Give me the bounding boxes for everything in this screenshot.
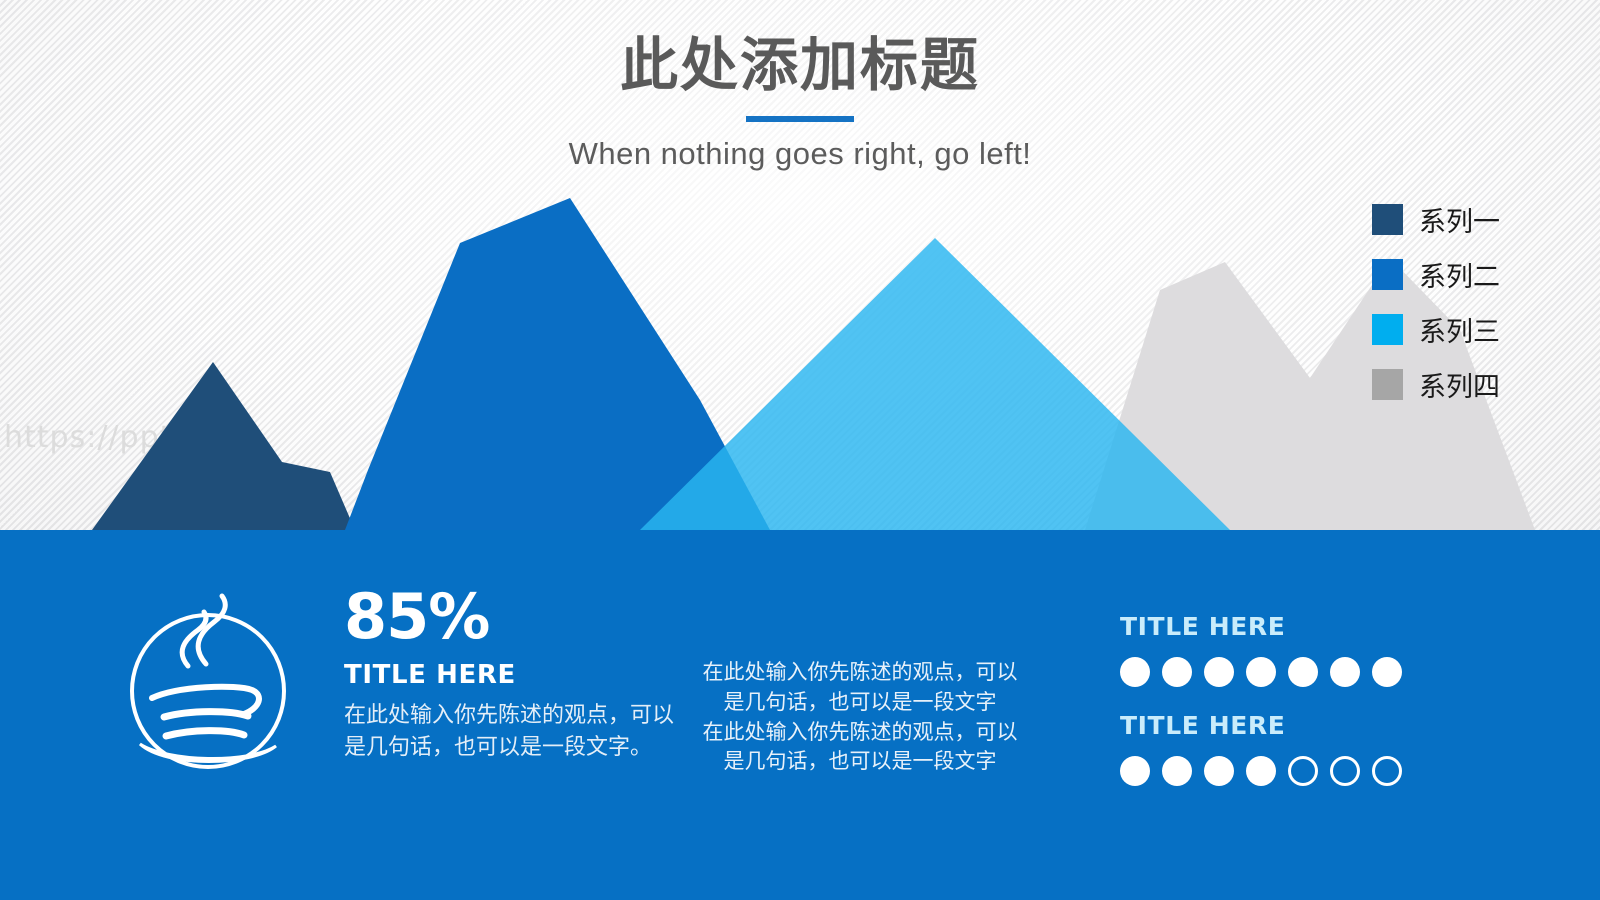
rating-dot-row-two <box>1120 756 1402 786</box>
rating-group-two: TITLE HERE <box>1120 711 1402 786</box>
center-text-block: 在此处输入你先陈述的观点，可以 是几句话，也可以是一段文字 在此处输入你先陈述的… <box>700 658 1020 777</box>
rating-dot-filled[interactable] <box>1330 657 1360 687</box>
legend-item-series-three[interactable]: 系列三 <box>1372 302 1522 357</box>
stat-text-group: 85% TITLE HERE 在此处输入你先陈述的观点，可以是几句话，也可以是一… <box>344 586 694 764</box>
java-coffee-cup-icon <box>118 586 298 781</box>
rating-title: TITLE HERE <box>1120 612 1402 641</box>
legend-label: 系列二 <box>1419 255 1500 294</box>
rating-dot-empty[interactable] <box>1330 756 1360 786</box>
page-subtitle: When nothing goes right, go left! <box>0 136 1600 172</box>
stat-body-text: 在此处输入你先陈述的观点，可以是几句话，也可以是一段文字。 <box>344 700 694 764</box>
legend-item-series-one[interactable]: 系列一 <box>1372 192 1522 247</box>
mountain-series-one <box>92 362 355 530</box>
legend-label: 系列四 <box>1419 365 1500 404</box>
center-text-line: 是几句话，也可以是一段文字 <box>700 747 1020 777</box>
center-text-line: 在此处输入你先陈述的观点，可以 <box>700 718 1020 748</box>
bottom-content-panel: 85% TITLE HERE 在此处输入你先陈述的观点，可以是几句话，也可以是一… <box>0 530 1600 900</box>
rating-dot-filled[interactable] <box>1120 756 1150 786</box>
legend-label: 系列三 <box>1419 310 1500 349</box>
rating-dot-filled[interactable] <box>1162 756 1192 786</box>
legend-swatch-icon <box>1372 204 1403 235</box>
ratings-block: TITLE HERE TITLE HERE <box>1120 612 1402 810</box>
legend-swatch-icon <box>1372 314 1403 345</box>
legend-swatch-icon <box>1372 369 1403 400</box>
legend-item-series-four[interactable]: 系列四 <box>1372 357 1522 412</box>
slide-header: 此处添加标题 When nothing goes right, go left! <box>0 34 1600 172</box>
slide-canvas: https://ppt... 此处添加标题 When nothing goes … <box>0 0 1600 900</box>
center-text-line: 在此处输入你先陈述的观点，可以 <box>700 658 1020 688</box>
chart-legend: 系列一 系列二 系列三 系列四 <box>1372 192 1522 412</box>
rating-title: TITLE HERE <box>1120 711 1402 740</box>
rating-dot-filled[interactable] <box>1162 657 1192 687</box>
legend-swatch-icon <box>1372 259 1403 290</box>
legend-item-series-two[interactable]: 系列二 <box>1372 247 1522 302</box>
rating-dot-empty[interactable] <box>1288 756 1318 786</box>
rating-dot-filled[interactable] <box>1246 756 1276 786</box>
stat-block: 85% TITLE HERE 在此处输入你先陈述的观点，可以是几句话，也可以是一… <box>118 580 694 781</box>
center-text-line: 是几句话，也可以是一段文字 <box>700 688 1020 718</box>
rating-dot-filled[interactable] <box>1246 657 1276 687</box>
stat-title: TITLE HERE <box>344 660 694 690</box>
rating-dot-filled[interactable] <box>1204 756 1234 786</box>
title-underline-rule <box>746 116 854 122</box>
rating-dot-filled[interactable] <box>1120 657 1150 687</box>
rating-dot-filled[interactable] <box>1288 657 1318 687</box>
legend-label: 系列一 <box>1419 200 1500 239</box>
rating-dot-row-one <box>1120 657 1402 687</box>
rating-dot-empty[interactable] <box>1372 756 1402 786</box>
rating-group-one: TITLE HERE <box>1120 612 1402 687</box>
rating-dot-filled[interactable] <box>1204 657 1234 687</box>
rating-dot-filled[interactable] <box>1372 657 1402 687</box>
page-title: 此处添加标题 <box>0 34 1600 98</box>
stat-percent-value: 85% <box>344 586 694 648</box>
